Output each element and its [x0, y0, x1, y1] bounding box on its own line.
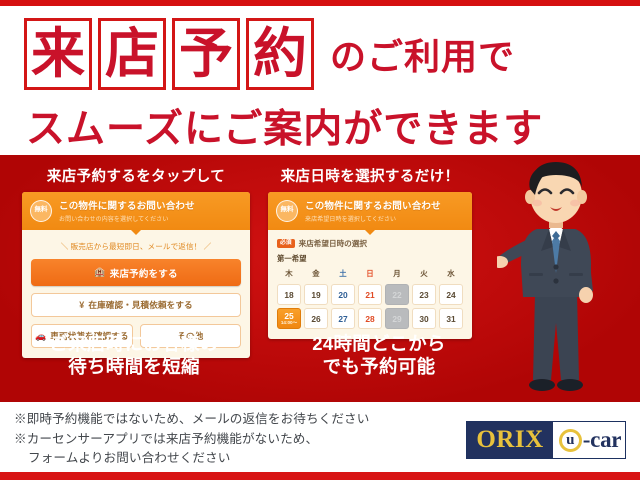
mockup-header-subtitle: お問い合わせの内容を選択してください [59, 214, 242, 223]
feature-panel: 来店予約するをタップして 無料 この物件に関するお問い合わせ お問い合わせの内容… [0, 155, 640, 402]
header-notch [365, 230, 375, 235]
calendar-day-number: 24 [446, 290, 455, 300]
calendar-day-number: 28 [365, 314, 374, 324]
u-circle-icon: u [559, 429, 582, 452]
calendar-day-number: 18 [284, 290, 293, 300]
headline-kanji-2: 店 [98, 18, 166, 90]
orix-ucar-logo: ORIX u -car [466, 421, 626, 459]
reserve-visit-button[interactable]: 🏨 来店予約をする [31, 259, 241, 286]
left-caption: ご来店時にお客様の 待ち時間を短縮 [0, 333, 268, 378]
headline-kanji-3: 予 [172, 18, 240, 90]
calendar-day-cell[interactable]: 24 [439, 284, 463, 305]
calendar-day-cell-disabled: 29 [385, 308, 409, 329]
calendar-day-number: 25 [284, 312, 293, 320]
reserve-visit-button-label: 来店予約をする [110, 266, 178, 280]
calendar-day-header: 木 [277, 268, 301, 281]
calendar-day-cell[interactable]: 21 [358, 284, 382, 305]
calendar-day-header: 金 [304, 268, 328, 281]
orix-wordmark: ORIX [467, 422, 553, 458]
salesman-illustration [497, 155, 615, 402]
right-caption: 24時間どこから でも予約可能 [268, 333, 490, 378]
preference-label: 第一希望 [277, 253, 463, 264]
car-text: -car [583, 427, 621, 453]
right-feature-column: 来店日時を選択するだけ！ 無料 この物件に関するお問い合わせ 来店希望日時を選択… [268, 165, 472, 339]
calendar-day-number: 19 [311, 290, 320, 300]
calendar-day-cell[interactable]: 18 [277, 284, 301, 305]
headline-line1: 来 店 予 約 のご利用で [24, 18, 515, 90]
calendar-body: 必須 来店希望日時の選択 第一希望 木金土日月火水181920212223242… [268, 230, 472, 339]
calendar-field-label: 来店希望日時の選択 [299, 238, 367, 249]
left-feature-column: 来店予約するをタップして 無料 この物件に関するお問い合わせ お問い合わせの内容… [22, 165, 250, 358]
left-caption-line1: ご来店時にお客様の [49, 333, 218, 354]
calendar-grid: 木金土日月火水181920212223242514:00〜26272829303… [277, 268, 463, 329]
header-notch [131, 230, 141, 235]
disclaimer-notes: ※即時予約機能ではないため、メールの返信をお待ちください ※カーセンサーアプリで… [14, 410, 369, 469]
free-badge: 無料 [276, 200, 298, 222]
calendar-field-label-row: 必須 来店希望日時の選択 [277, 238, 463, 249]
calendar-day-cell-selected[interactable]: 2514:00〜 [277, 308, 301, 329]
calendar-day-number: 23 [419, 290, 428, 300]
calendar-day-cell-disabled: 22 [385, 284, 409, 305]
calendar-day-header: 土 [331, 268, 355, 281]
right-column-title: 来店日時を選択するだけ！ [268, 165, 472, 186]
calendar-day-number: 30 [419, 314, 428, 324]
calendar-header-title: この物件に関するお問い合わせ [305, 198, 464, 212]
calendar-day-number: 21 [365, 290, 374, 300]
headline-kanji-1: 来 [24, 18, 92, 90]
stock-quote-button-label: 在庫確認・見積依頼をする [88, 299, 192, 311]
stock-quote-button[interactable]: ¥ 在庫確認・見積依頼をする [31, 293, 241, 317]
calendar-day-header: 水 [439, 268, 463, 281]
orix-text: ORIX [476, 426, 543, 454]
calendar-day-cell[interactable]: 31 [439, 308, 463, 329]
headline-section: 来 店 予 約 のご利用で スムーズにご案内ができます [0, 6, 640, 155]
reply-time-note: ＼ 販売店から最短即日、メールで返信！ ／ [31, 241, 241, 252]
u-letter: u [566, 433, 574, 448]
headline-kanji-4: 約 [246, 18, 314, 90]
calendar-day-header: 火 [412, 268, 436, 281]
disclaimer-line-1: ※即時予約機能ではないため、メールの返信をお待ちください [14, 410, 369, 430]
left-caption-line2: 待ち時間を短縮 [68, 356, 200, 377]
calendar-day-cell[interactable]: 28 [358, 308, 382, 329]
businessman-figure [497, 155, 615, 402]
store-icon: 🏨 [94, 268, 105, 277]
calendar-day-number: 20 [338, 290, 347, 300]
calendar-day-cell[interactable]: 20 [331, 284, 355, 305]
calendar-day-number: 26 [311, 314, 320, 324]
right-caption-line2: でも予約可能 [323, 356, 436, 377]
calendar-day-time: 14:00〜 [281, 321, 297, 326]
headline-line2: スムーズにご案内ができます [26, 98, 543, 154]
promo-banner: 来 店 予 約 のご利用で スムーズにご案内ができます 来店予約するをタップして… [0, 0, 640, 480]
disclaimer-line-2: ※カーセンサーアプリでは来店予約機能がないため、 [14, 430, 369, 450]
required-badge: 必須 [277, 239, 295, 249]
yen-icon: ¥ [79, 301, 84, 310]
mockup-header-title: この物件に関するお問い合わせ [59, 198, 242, 212]
calendar-day-number: 31 [446, 314, 455, 324]
bottom-accent-stripe [0, 472, 640, 480]
mockup-header: 無料 この物件に関するお問い合わせ お問い合わせの内容を選択してください [22, 192, 250, 230]
right-caption-line1: 24時間どこから [312, 333, 445, 354]
ucar-wordmark: u -car [553, 422, 625, 458]
calendar-day-cell[interactable]: 26 [304, 308, 328, 329]
feature-captions: ご来店時にお客様の 待ち時間を短縮 24時間どこから でも予約可能 [0, 333, 490, 378]
calendar-day-number: 27 [338, 314, 347, 324]
disclaimer-line-3: フォームよりお問い合わせください [14, 449, 369, 469]
calendar-day-number: 29 [392, 314, 401, 324]
calendar-day-cell[interactable]: 30 [412, 308, 436, 329]
calendar-header-subtitle: 来店希望日時を選択してください [305, 214, 464, 223]
calendar-day-header: 月 [385, 268, 409, 281]
calendar-day-cell[interactable]: 27 [331, 308, 355, 329]
calendar-day-number: 22 [392, 290, 401, 300]
calendar-day-header: 日 [358, 268, 382, 281]
calendar-mockup: 無料 この物件に関するお問い合わせ 来店希望日時を選択してください 必須 来店希… [268, 192, 472, 339]
free-badge: 無料 [30, 200, 52, 222]
calendar-mockup-header: 無料 この物件に関するお問い合わせ 来店希望日時を選択してください [268, 192, 472, 230]
left-column-title: 来店予約するをタップして [22, 165, 250, 186]
calendar-day-cell[interactable]: 23 [412, 284, 436, 305]
headline-tail-text: のご利用で [330, 28, 515, 80]
calendar-day-cell[interactable]: 19 [304, 284, 328, 305]
